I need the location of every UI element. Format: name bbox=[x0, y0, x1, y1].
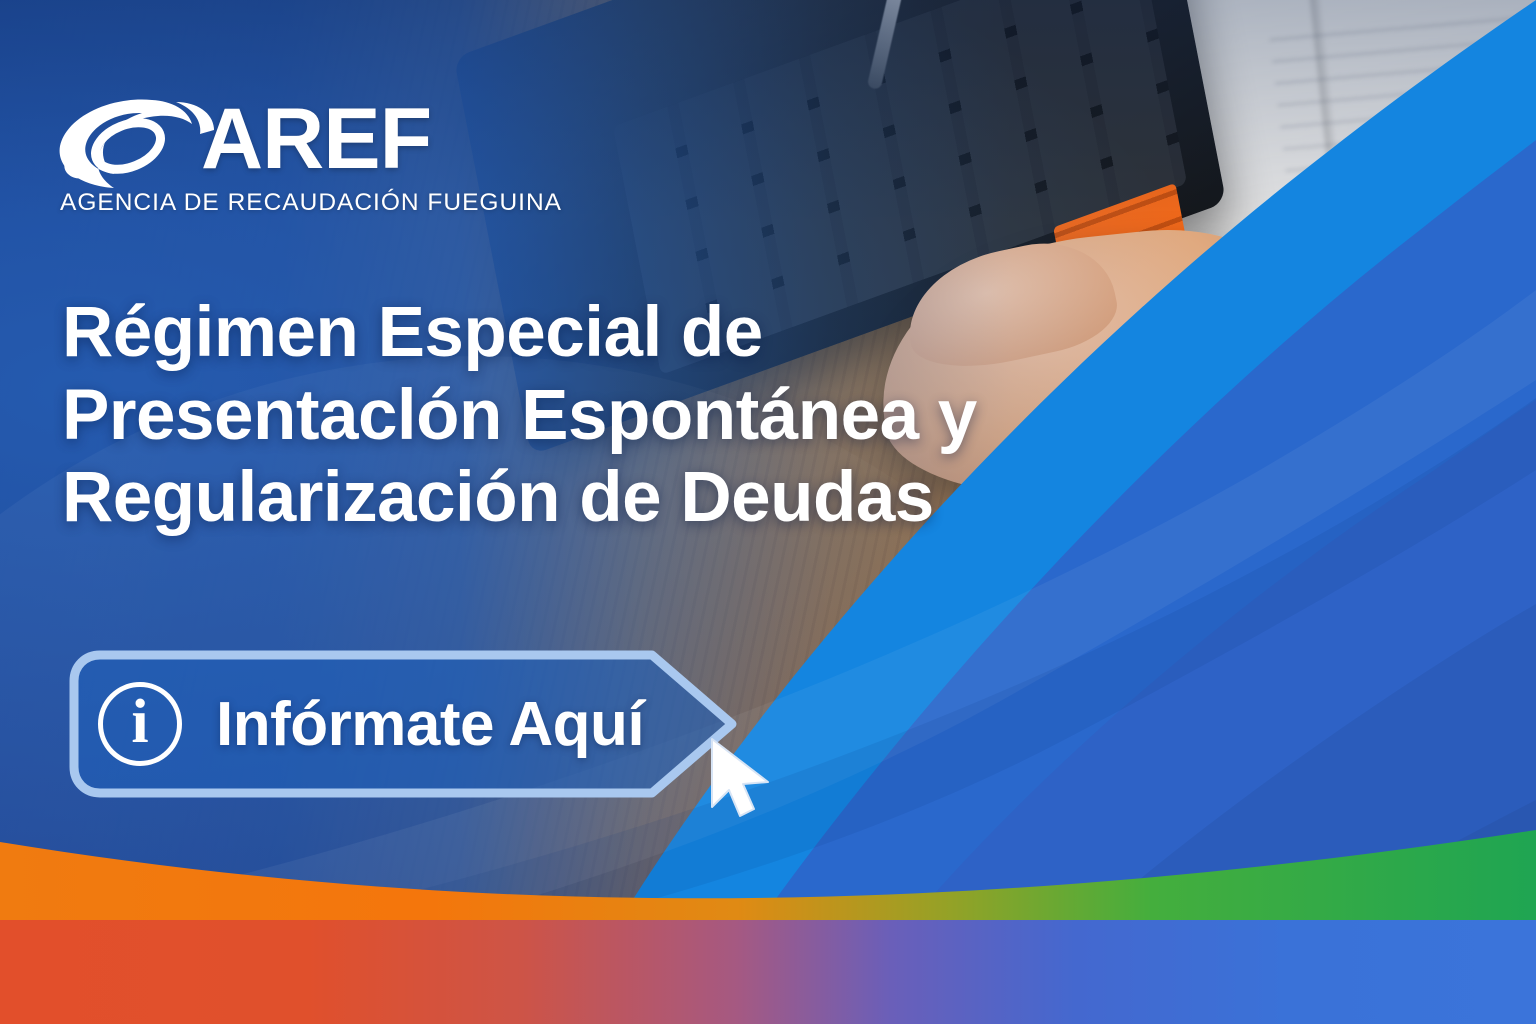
bottom-gradient-strip bbox=[0, 920, 1536, 1024]
headline-line-2: Presentaclón Espontánea y bbox=[62, 375, 1022, 458]
headline-line-1: Régimen Especial de bbox=[62, 292, 1022, 375]
headline-line-3: Regularización de Deudas bbox=[62, 457, 1022, 540]
informate-aqui-button[interactable]: i Infórmate Aquí bbox=[64, 645, 754, 803]
info-circle-icon: i bbox=[98, 682, 182, 766]
mouse-pointer-icon bbox=[706, 735, 776, 821]
promo-banner: AREF AGENCIA DE RECAUDACIÓN FUEGUINA Rég… bbox=[0, 0, 1536, 1024]
cta-content: i Infórmate Aquí bbox=[98, 673, 644, 775]
brand-name: AREF bbox=[201, 96, 431, 182]
page-title: Régimen Especial de Presentaclón Espontá… bbox=[62, 292, 1022, 540]
bottom-color-bands bbox=[0, 824, 1536, 1024]
brand-tagline: AGENCIA DE RECAUDACIÓN FUEGUINA bbox=[60, 189, 562, 217]
aref-swoosh-ellipse-icon bbox=[56, 94, 224, 194]
aref-logo: AREF AGENCIA DE RECAUDACIÓN FUEGUINA bbox=[56, 92, 456, 228]
cta-label: Infórmate Aquí bbox=[216, 689, 644, 760]
orange-green-band bbox=[0, 830, 1536, 928]
